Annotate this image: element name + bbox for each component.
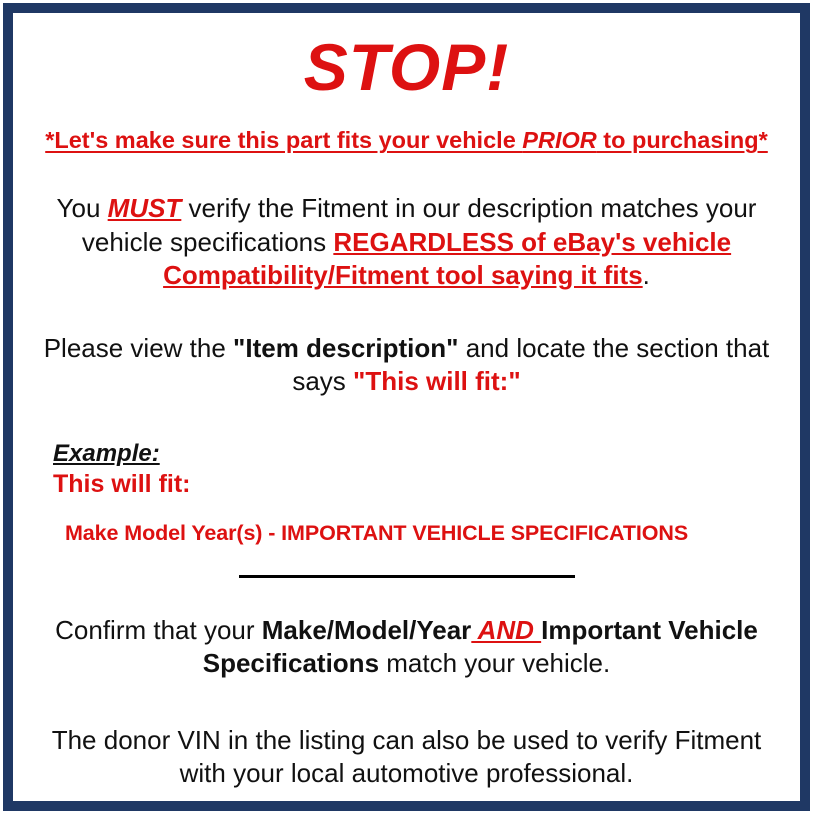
verify-text-3: . [643, 260, 650, 290]
notice-border-frame: STOP! *Let's make sure this part fits yo… [3, 3, 810, 811]
donor-vin-paragraph: The donor VIN in the listing can also be… [27, 724, 786, 790]
example-this-will-fit: This will fit: [53, 470, 786, 499]
stop-heading: STOP! [27, 33, 786, 102]
verify-fitment-paragraph: You MUST verify the Fitment in our descr… [27, 192, 786, 291]
item-description-label: "Item description" [233, 333, 458, 363]
view-text-1: Please view the [44, 333, 233, 363]
this-will-fit-quote: "This will fit:" [353, 366, 521, 396]
example-label: Example: [53, 440, 786, 468]
confirm-text-2: match your vehicle. [379, 648, 610, 678]
make-model-year-label: Make/Model/Year [262, 615, 472, 645]
confirm-paragraph: Confirm that your Make/Model/Year AND Im… [27, 614, 786, 680]
confirm-text-1: Confirm that your [55, 615, 262, 645]
fitment-notice-card: STOP! *Let's make sure this part fits yo… [0, 0, 813, 814]
banner-lead-text: *Let's make sure this part fits your veh… [45, 127, 522, 153]
banner-prior-emphasis: PRIOR [522, 127, 596, 153]
and-emphasis: AND [471, 615, 541, 645]
verify-text-1: You [57, 193, 108, 223]
example-spec-line: Make Model Year(s) - IMPORTANT VEHICLE S… [53, 521, 786, 546]
must-emphasis: MUST [108, 193, 182, 223]
divider-rule-line [239, 575, 575, 578]
banner-tail-text: to purchasing* [597, 127, 768, 153]
item-description-paragraph: Please view the "Item description" and l… [27, 332, 786, 398]
section-divider [27, 574, 786, 578]
example-block: Example: This will fit: Make Model Year(… [27, 440, 786, 546]
fitment-banner: *Let's make sure this part fits your veh… [27, 126, 786, 154]
